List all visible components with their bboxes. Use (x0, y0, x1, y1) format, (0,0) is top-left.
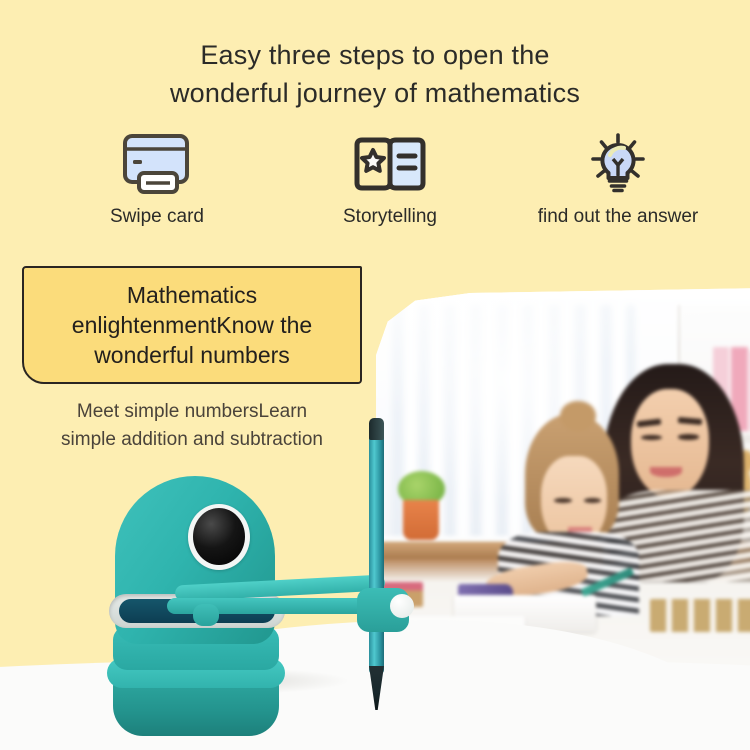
page-title: Easy three steps to open the wonderful j… (0, 36, 750, 112)
photo-plant-pot (403, 500, 438, 540)
callout-text: Mathematics enlightenmentKnow the wonder… (22, 266, 362, 384)
headline-line-2: wonderful journey of mathematics (0, 74, 750, 112)
photo-wooden-blocks (650, 599, 750, 633)
photo-mother-eye (678, 434, 700, 439)
teal-drawing-robot (105, 476, 335, 716)
callout-line-2: enlightenmentKnow the (72, 310, 312, 340)
subcopy-line-2: simple addition and subtraction (16, 426, 368, 454)
feature-find-answer: find out the answer (518, 130, 718, 228)
callout-line-1: Mathematics (127, 280, 257, 310)
open-book-star-icon (290, 130, 490, 198)
callout-line-3: wonderful numbers (94, 340, 290, 370)
headline-line-1: Easy three steps to open the (200, 40, 549, 70)
subcopy-line-1: Meet simple numbersLearn (16, 398, 368, 426)
photo-child-eye (554, 498, 572, 503)
promo-banner: Easy three steps to open the wonderful j… (0, 0, 750, 750)
feature-row: Swipe card Storytelling (0, 130, 750, 245)
lightbulb-icon (518, 130, 718, 198)
photo-mother-face (631, 389, 709, 498)
feature-label: Swipe card (57, 206, 257, 228)
callout-box: Mathematics enlightenmentKnow the wonder… (22, 266, 362, 384)
robot-camera-eye (193, 508, 245, 565)
robot-arm-joint (193, 604, 219, 626)
robot-pen-knob (390, 594, 414, 618)
credit-card-icon (57, 130, 257, 198)
robot-drawing-pen (369, 424, 384, 674)
feature-label: Storytelling (290, 206, 490, 228)
subcopy-text: Meet simple numbersLearn simple addition… (16, 398, 368, 454)
feature-swipe-card: Swipe card (57, 130, 257, 228)
feature-label: find out the answer (518, 206, 718, 228)
robot-pen-cap (369, 418, 384, 440)
feature-storytelling: Storytelling (290, 130, 490, 228)
photo-child-bun (560, 401, 595, 430)
